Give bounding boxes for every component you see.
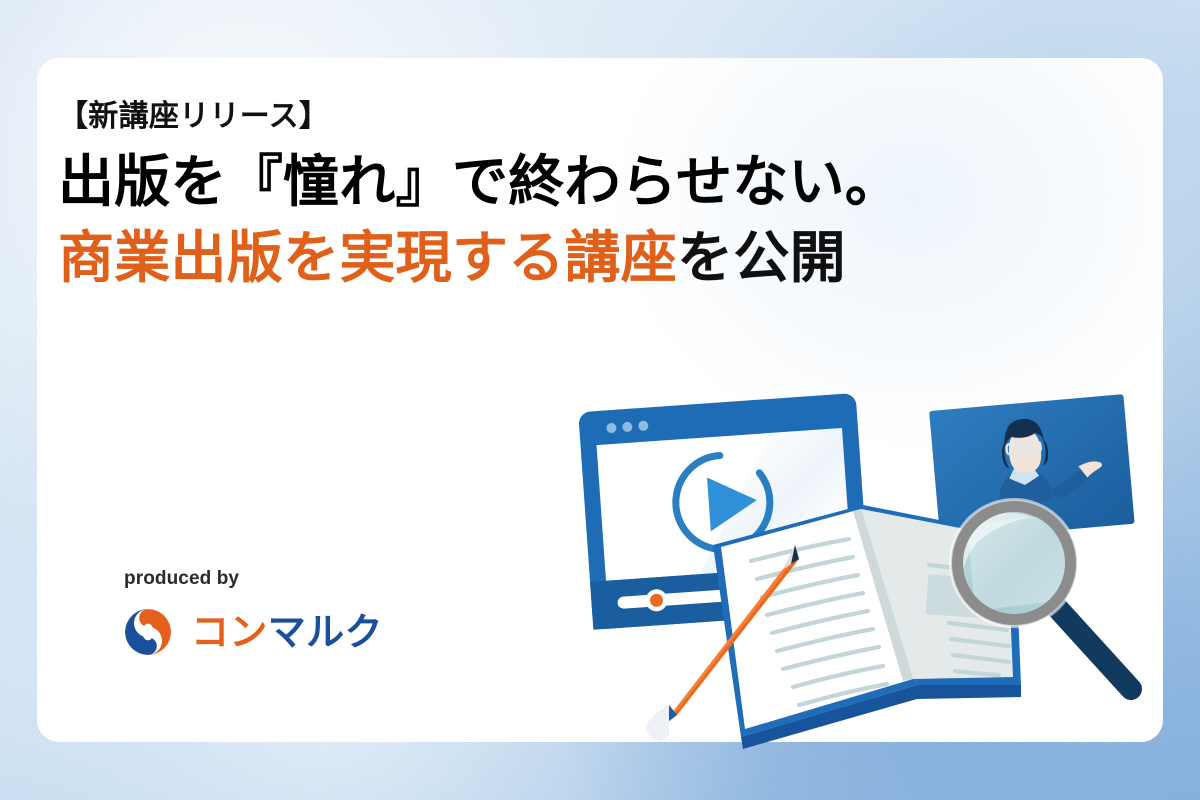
brand-lockup: コンマルク xyxy=(122,606,383,658)
kicker-label: 【新講座リリース】 xyxy=(58,98,1058,136)
headline-accent-segment: 商業出版を実現する講座 xyxy=(58,226,677,289)
headline-line-2: 商業出版を実現する講座を公開 xyxy=(58,224,1058,292)
headline-group: 【新講座リリース】 出版を『憧れ』で終わらせない。 商業出版を実現する講座を公開 xyxy=(58,98,1058,292)
brand-name-part-1: コン xyxy=(191,613,268,651)
illustration-svg xyxy=(545,385,1165,765)
headline-line-1: 出版を『憧れ』で終わらせない。 xyxy=(58,148,1058,216)
brand-wordmark: コンマルク xyxy=(191,613,383,651)
producer-block: produced by コンマルク xyxy=(122,568,383,658)
online-course-illustration xyxy=(545,385,1165,765)
brand-name-part-2: マルク xyxy=(268,613,383,651)
produced-by-label: produced by xyxy=(124,568,383,590)
headline-rest-segment: を公開 xyxy=(677,226,846,289)
swirl-logo-mark-icon xyxy=(122,606,174,658)
banner-root: 【新講座リリース】 出版を『憧れ』で終わらせない。 商業出版を実現する講座を公開… xyxy=(0,0,1200,800)
